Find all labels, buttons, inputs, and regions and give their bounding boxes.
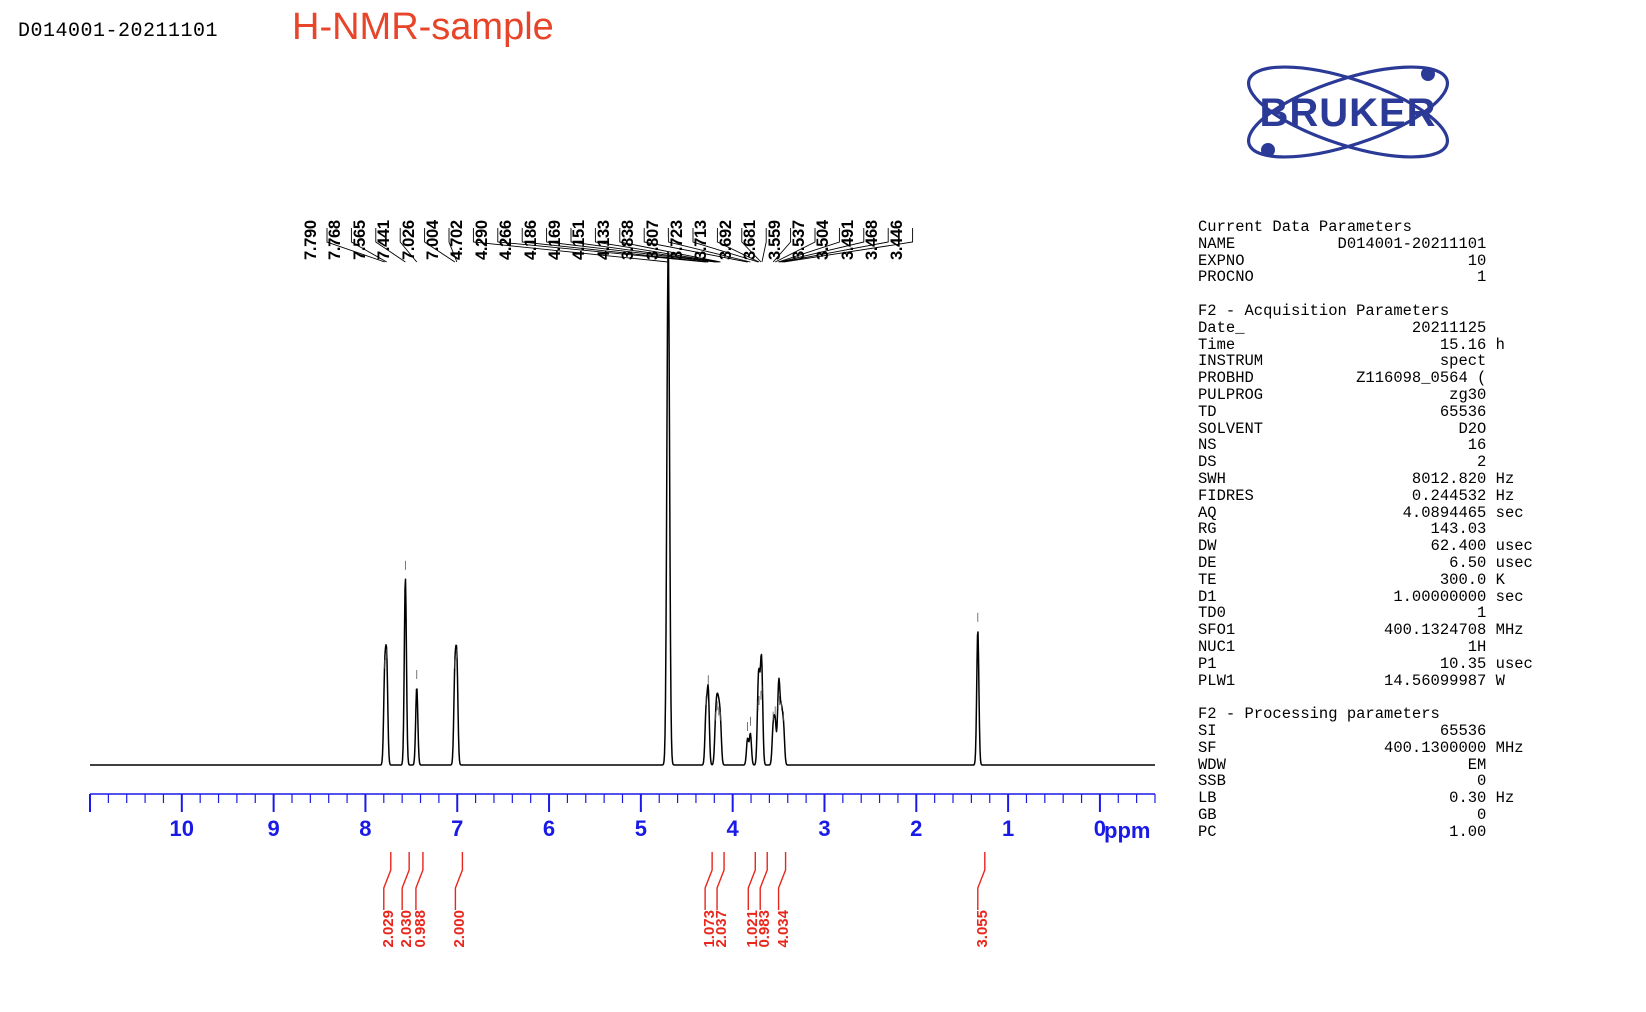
param-section-spacer xyxy=(1198,286,1533,303)
param-section-title: F2 - Acquisition Parameters xyxy=(1198,303,1533,320)
param-row: INSTRUM spect xyxy=(1198,353,1533,370)
param-row: SWH 8012.820 Hz xyxy=(1198,471,1533,488)
param-row: GB 0 xyxy=(1198,807,1533,824)
param-row: TD 65536 xyxy=(1198,404,1533,421)
param-row: DE 6.50 usec xyxy=(1198,555,1533,572)
param-row: PROBHD Z116098_0564 ( xyxy=(1198,370,1533,387)
axis-tick-label: 2 xyxy=(910,816,922,842)
sample-id-label: D014001-20211101 xyxy=(18,20,218,43)
param-row: P1 10.35 usec xyxy=(1198,656,1533,673)
param-row: DS 2 xyxy=(1198,454,1533,471)
axis-tick-label: 5 xyxy=(635,816,647,842)
param-row: DW 62.400 usec xyxy=(1198,538,1533,555)
axis-tick-label: 6 xyxy=(543,816,555,842)
param-row: PROCNO 1 xyxy=(1198,269,1533,286)
param-row: NS 16 xyxy=(1198,437,1533,454)
param-row: Date_ 20211125 xyxy=(1198,320,1533,337)
param-section-title: F2 - Processing parameters xyxy=(1198,706,1533,723)
nmr-report-page: D014001-20211101 H-NMR-sample BRUKER Cur… xyxy=(0,0,1646,1012)
integral-value: 2.029 xyxy=(380,910,397,948)
param-row: SF 400.1300000 MHz xyxy=(1198,740,1533,757)
nmr-spectrum-trace xyxy=(0,120,1180,820)
integral-band: 2.0292.0300.9882.0001.0732.0371.0210.983… xyxy=(0,848,1180,958)
param-row: PLW1 14.56099987 W xyxy=(1198,673,1533,690)
integral-value: 4.034 xyxy=(775,910,792,948)
param-section-spacer xyxy=(1198,689,1533,706)
axis-tick-label: 8 xyxy=(359,816,371,842)
axis-tick-label: 9 xyxy=(267,816,279,842)
axis-tick-label: 1 xyxy=(1002,816,1014,842)
param-row: NUC1 1H xyxy=(1198,639,1533,656)
axis-tick-label: 3 xyxy=(818,816,830,842)
acquisition-parameters-panel: Current Data ParametersNAME D014001-2021… xyxy=(1198,219,1533,840)
integral-value: 3.055 xyxy=(974,910,991,948)
param-row: TD0 1 xyxy=(1198,605,1533,622)
param-section-title: Current Data Parameters xyxy=(1198,219,1533,236)
param-row: PC 1.00 xyxy=(1198,824,1533,841)
param-row: SFO1 400.1324708 MHz xyxy=(1198,622,1533,639)
param-row: PULPROG zg30 xyxy=(1198,387,1533,404)
param-row: LB 0.30 Hz xyxy=(1198,790,1533,807)
axis-tick-label: 10 xyxy=(170,816,194,842)
param-row: RG 143.03 xyxy=(1198,521,1533,538)
integral-value: 0.988 xyxy=(412,910,429,948)
integral-value: 2.000 xyxy=(451,910,468,948)
svg-text:BRUKER: BRUKER xyxy=(1259,91,1436,135)
param-row: WDW EM xyxy=(1198,757,1533,774)
ppm-axis: 109876543210 xyxy=(0,790,1180,850)
page-title: H-NMR-sample xyxy=(292,6,554,49)
param-row: SSB 0 xyxy=(1198,773,1533,790)
integral-value: 0.983 xyxy=(756,910,773,948)
param-row: Time 15.16 h xyxy=(1198,337,1533,354)
param-row: FIDRES 0.244532 Hz xyxy=(1198,488,1533,505)
param-row: TE 300.0 K xyxy=(1198,572,1533,589)
param-row: D1 1.00000000 sec xyxy=(1198,589,1533,606)
integral-value: 2.037 xyxy=(713,910,730,948)
param-row: AQ 4.0894465 sec xyxy=(1198,505,1533,522)
axis-tick-label: 4 xyxy=(727,816,739,842)
param-row: SOLVENT D2O xyxy=(1198,421,1533,438)
param-row: EXPNO 10 xyxy=(1198,253,1533,270)
bruker-logo: BRUKER xyxy=(1232,52,1464,172)
axis-tick-label: 7 xyxy=(451,816,463,842)
ppm-unit-label: ppm xyxy=(1104,818,1150,844)
param-row: NAME D014001-20211101 xyxy=(1198,236,1533,253)
param-row: SI 65536 xyxy=(1198,723,1533,740)
